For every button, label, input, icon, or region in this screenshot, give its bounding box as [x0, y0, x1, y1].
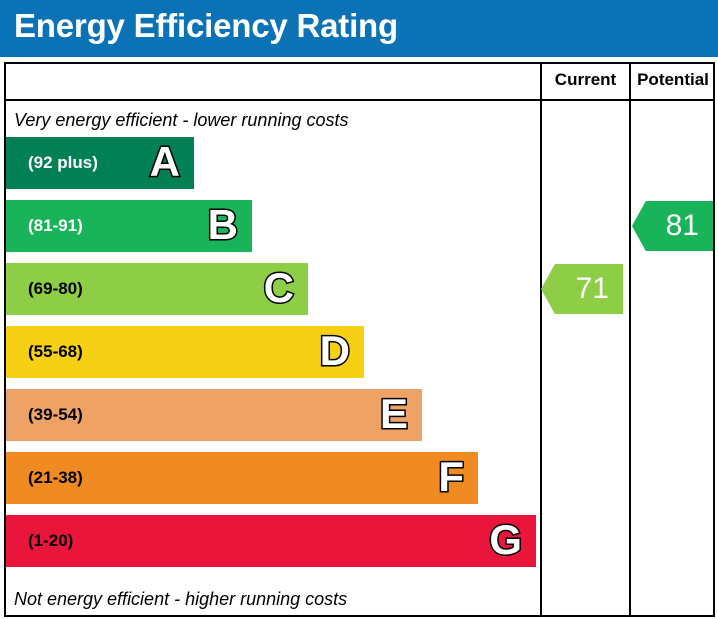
band-range-label: (69-80) — [28, 279, 83, 299]
band-letter-d: D — [320, 330, 350, 372]
header-divider — [4, 99, 715, 101]
rating-band-g: (1-20)G — [6, 515, 536, 567]
rating-band-e: (39-54)E — [6, 389, 422, 441]
potential-column-divider — [629, 62, 631, 617]
band-range-label: (55-68) — [28, 342, 83, 362]
band-letter-g: G — [489, 519, 522, 561]
energy-efficiency-rating-chart: Energy Efficiency Rating Current Potenti… — [0, 0, 718, 619]
band-range-label: (92 plus) — [28, 153, 98, 173]
page-title: Energy Efficiency Rating — [14, 7, 398, 45]
rating-band-d: (55-68)D — [6, 326, 364, 378]
column-header-current: Current — [542, 70, 629, 90]
title-bar: Energy Efficiency Rating — [0, 0, 718, 57]
rating-band-b: (81-91)B — [6, 200, 252, 252]
band-letter-c: C — [264, 267, 294, 309]
band-letter-f: F — [438, 456, 464, 498]
column-header-potential: Potential — [631, 70, 715, 90]
rating-band-c: (69-80)C — [6, 263, 308, 315]
band-letter-e: E — [380, 393, 408, 435]
current-rating-value: 71 — [576, 274, 609, 304]
caption-not-efficient: Not energy efficient - higher running co… — [14, 589, 347, 610]
band-range-label: (81-91) — [28, 216, 83, 236]
potential-rating-value: 81 — [666, 211, 699, 241]
band-range-label: (1-20) — [28, 531, 73, 551]
current-column-divider — [540, 62, 542, 617]
rating-band-a: (92 plus)A — [6, 137, 194, 189]
rating-band-f: (21-38)F — [6, 452, 478, 504]
band-letter-a: A — [150, 141, 180, 183]
band-range-label: (21-38) — [28, 468, 83, 488]
potential-rating-arrow: 81 — [632, 201, 713, 251]
current-rating-arrow: 71 — [541, 264, 623, 314]
band-letter-b: B — [208, 204, 238, 246]
band-range-label: (39-54) — [28, 405, 83, 425]
caption-very-efficient: Very energy efficient - lower running co… — [14, 110, 349, 131]
